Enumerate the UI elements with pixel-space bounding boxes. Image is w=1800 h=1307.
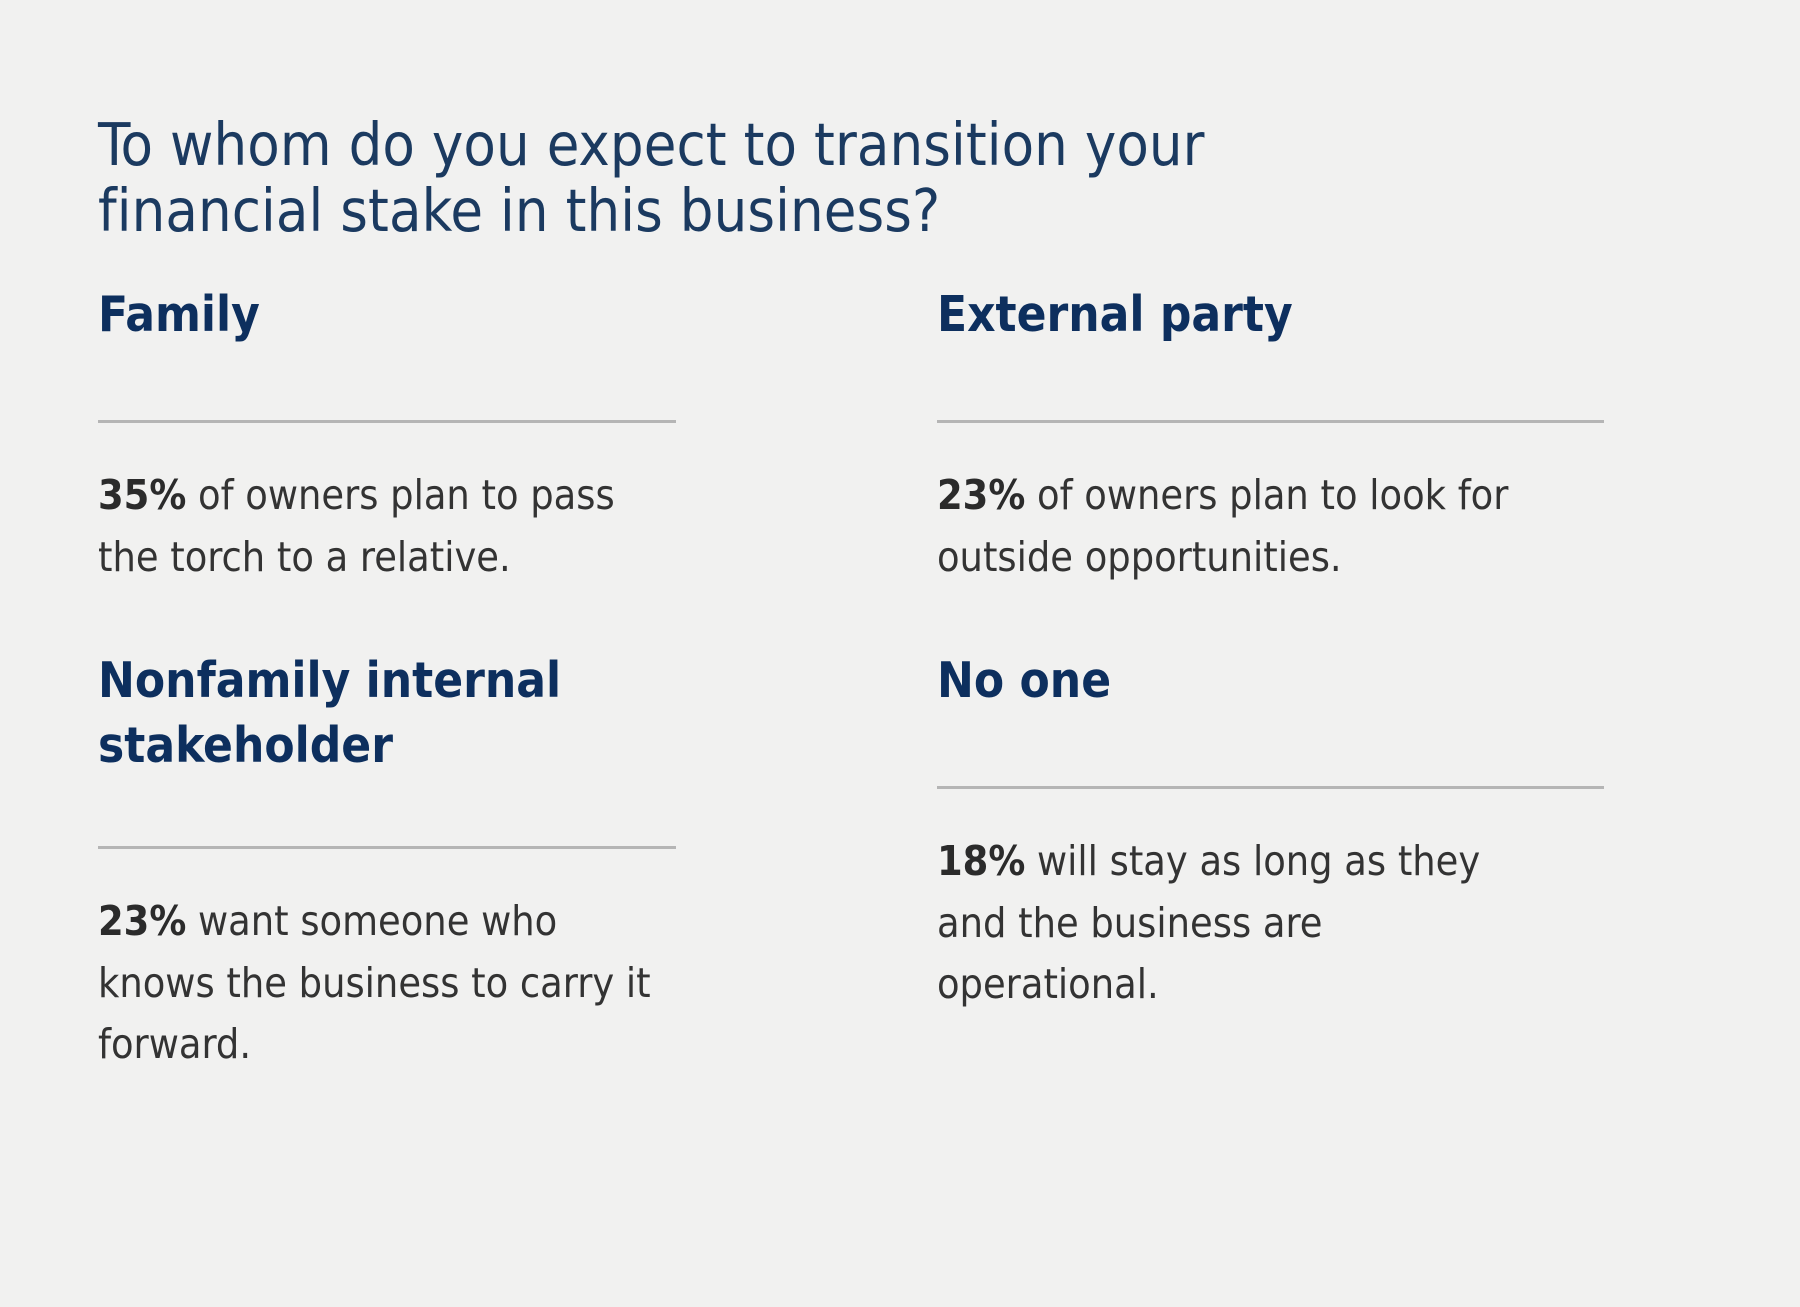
stat-card-external-party-body: 23% of owners plan to look for outside o…	[937, 465, 1517, 588]
infographic-panel: To whom do you expect to transition your…	[0, 0, 1800, 1307]
stat-card-family-body: 35% of owners plan to pass the torch to …	[98, 465, 678, 588]
stat-card-nonfamily-body: 23% want someone who knows the business …	[98, 891, 678, 1076]
stat-card-external-party-divider	[937, 420, 1604, 423]
stat-card-family: Family 35% of owners plan to pass the to…	[98, 282, 678, 588]
stat-card-no-one-heading: No one	[937, 648, 1517, 713]
stat-card-external-party-heading: External party	[937, 282, 1517, 347]
stat-card-no-one-divider	[937, 786, 1604, 789]
stat-card-nonfamily-heading: Nonfamily internal stakeholder	[98, 648, 678, 778]
stat-card-no-one-body: 18% will stay as long as they and the bu…	[937, 831, 1517, 1016]
stat-card-family-percent: 35%	[98, 471, 186, 519]
stat-card-external-party-percent: 23%	[937, 471, 1025, 519]
page-title: To whom do you expect to transition your…	[98, 112, 1298, 244]
stat-card-nonfamily-divider	[98, 846, 676, 849]
stat-card-no-one-percent: 18%	[937, 837, 1025, 885]
stat-card-family-divider	[98, 420, 676, 423]
stat-card-external-party: External party 23% of owners plan to loo…	[937, 282, 1517, 588]
stat-card-family-heading: Family	[98, 282, 678, 347]
stat-card-no-one: No one 18% will stay as long as they and…	[937, 648, 1517, 1016]
stat-card-nonfamily-percent: 23%	[98, 897, 186, 945]
stat-card-nonfamily: Nonfamily internal stakeholder 23% want …	[98, 648, 678, 1076]
